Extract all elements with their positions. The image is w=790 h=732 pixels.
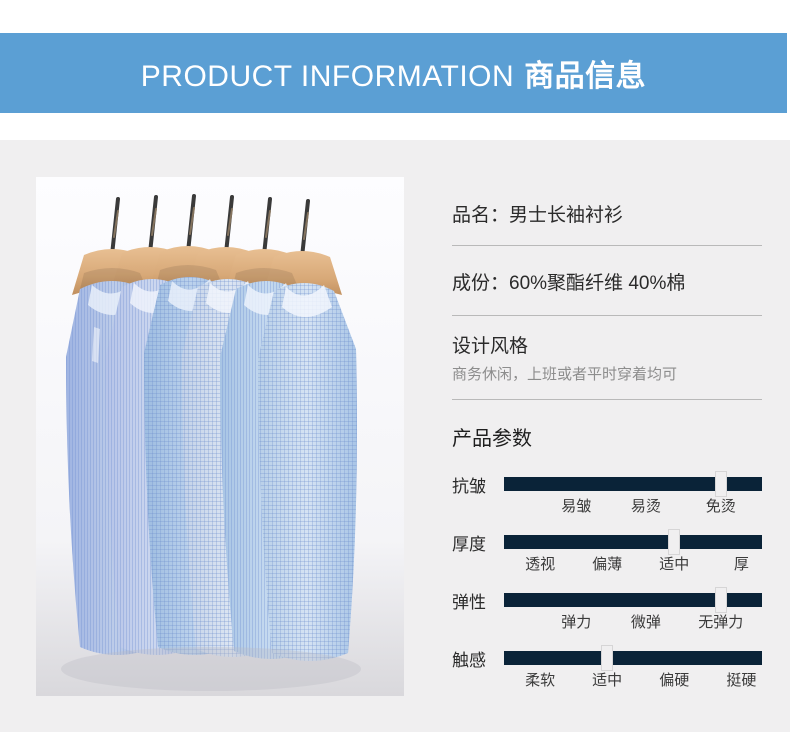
product-info-panel: 品名：男士长袖衬衫 成份：60%聚酯纤维 40%棉 设计风格 商务休闲，上班或者…	[452, 200, 762, 699]
param-slider-bar	[504, 651, 762, 665]
design-style-row: 设计风格 商务休闲，上班或者平时穿着均可	[452, 316, 762, 399]
param-tick-label[interactable]: 偏硬	[659, 669, 689, 690]
product-name-label: 品名：	[452, 205, 509, 226]
param-tick-label[interactable]: 挺硬	[726, 669, 756, 690]
param-slider-marker[interactable]	[601, 645, 613, 671]
product-photo[interactable]	[36, 177, 404, 696]
param-tick-label[interactable]: 微弹	[631, 611, 661, 632]
param-tick-label[interactable]: 弹力	[561, 611, 591, 632]
page-title-cn: 商品信息	[524, 60, 646, 93]
param-scale: 柔软适中偏硬挺硬	[504, 669, 762, 693]
composition-row: 成份：60%聚酯纤维 40%棉	[452, 246, 762, 315]
param-label: 弹性	[452, 588, 486, 613]
design-style-description: 商务休闲，上班或者平时穿着均可	[452, 365, 762, 385]
composition-label: 成份：	[452, 273, 509, 294]
param-tick-label[interactable]: 适中	[659, 553, 689, 574]
product-name-row: 品名：男士长袖衬衫	[452, 200, 762, 245]
param-slider-track[interactable]	[504, 535, 762, 549]
param-slider-track[interactable]	[504, 593, 762, 607]
param-tick-label[interactable]: 易皱	[561, 495, 591, 516]
parameters-list: 抗皱易皱易烫免烫厚度透视偏薄适中厚弹性弹力微弹无弹力触感柔软适中偏硬挺硬	[452, 467, 762, 699]
param-tick-label[interactable]: 厚	[734, 553, 749, 574]
param-scale: 透视偏薄适中厚	[504, 553, 762, 577]
design-style-title: 设计风格	[452, 334, 762, 360]
param-slider-marker[interactable]	[715, 587, 727, 613]
divider-3	[452, 399, 762, 400]
content-area: 品名：男士长袖衬衫 成份：60%聚酯纤维 40%棉 设计风格 商务休闲，上班或者…	[0, 140, 790, 732]
param-slider-marker[interactable]	[715, 471, 727, 497]
param-tick-label[interactable]: 易烫	[631, 495, 661, 516]
param-tick-label[interactable]: 柔软	[525, 669, 555, 690]
product-name-value: 男士长袖衬衫	[509, 205, 623, 226]
param-label: 厚度	[452, 530, 486, 555]
param-tick-label[interactable]: 适中	[592, 669, 622, 690]
param-label: 抗皱	[452, 472, 486, 497]
param-row-触感: 触感柔软适中偏硬挺硬	[452, 641, 762, 699]
param-slider-track[interactable]	[504, 477, 762, 491]
param-row-厚度: 厚度透视偏薄适中厚	[452, 525, 762, 583]
param-tick-label[interactable]: 无弹力	[698, 611, 743, 632]
param-scale: 弹力微弹无弹力	[504, 611, 762, 635]
param-label: 触感	[452, 646, 486, 671]
param-row-抗皱: 抗皱易皱易烫免烫	[452, 467, 762, 525]
page-title: PRODUCT INFORMATION商品信息	[141, 51, 646, 95]
page-header-banner: PRODUCT INFORMATION商品信息	[0, 33, 787, 113]
param-tick-label[interactable]: 免烫	[706, 495, 736, 516]
parameters-title: 产品参数	[452, 422, 762, 451]
composition-value: 60%聚酯纤维 40%棉	[509, 273, 685, 294]
page-title-en: PRODUCT INFORMATION	[141, 60, 514, 93]
param-slider-track[interactable]	[504, 651, 762, 665]
param-tick-label[interactable]: 偏薄	[592, 553, 622, 574]
param-row-弹性: 弹性弹力微弹无弹力	[452, 583, 762, 641]
param-tick-label[interactable]: 透视	[525, 553, 555, 574]
param-slider-bar	[504, 535, 762, 549]
param-slider-marker[interactable]	[668, 529, 680, 555]
product-photo-image	[36, 177, 404, 696]
param-scale: 易皱易烫免烫	[504, 495, 762, 519]
